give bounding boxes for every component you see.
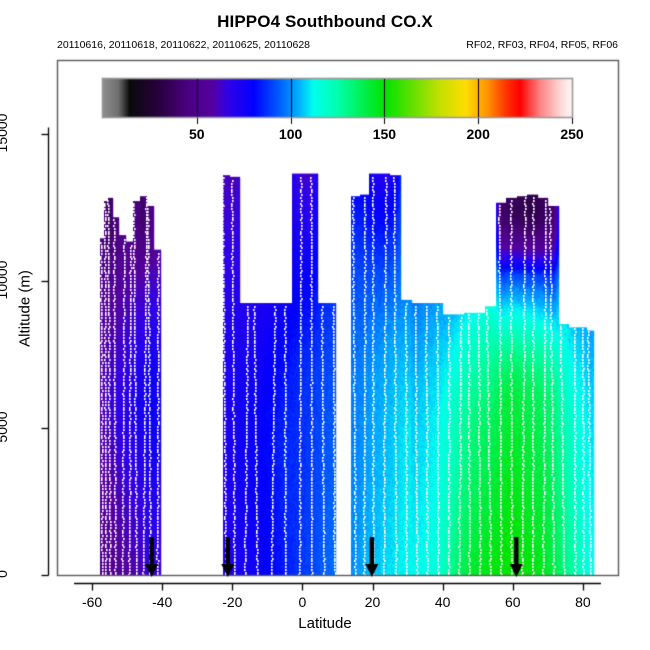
x-tick-label: -20: [222, 594, 242, 610]
y-tick-label: 10000: [0, 245, 10, 315]
colorbar-tick-label: 50: [189, 126, 205, 142]
x-axis-title: Latitude: [0, 615, 650, 632]
x-tick-label: 80: [575, 594, 591, 610]
y-tick-label: 15000: [0, 98, 10, 168]
research-flights-label: RF02, RF03, RF04, RF05, RF06: [466, 39, 618, 51]
co-curtain-plot-canvas: [0, 0, 650, 650]
page-title: HIPPO4 Southbound CO.X: [0, 12, 650, 32]
y-axis-title: Altitude (m): [17, 229, 34, 389]
x-tick-label: 40: [435, 594, 451, 610]
x-tick-label: 0: [299, 594, 307, 610]
colorbar-tick-label: 250: [560, 126, 583, 142]
colorbar-tick-label: 200: [467, 126, 490, 142]
colorbar-tick-label: 100: [279, 126, 302, 142]
y-tick-label: 5000: [0, 392, 10, 462]
y-tick-label: 0: [0, 539, 10, 609]
chart-page: HIPPO4 Southbound CO.X 20110616, 2011061…: [0, 0, 650, 650]
x-tick-label: -60: [82, 594, 102, 610]
x-tick-label: 20: [365, 594, 381, 610]
flight-dates-label: 20110616, 20110618, 20110622, 20110625, …: [57, 39, 310, 51]
colorbar-tick-label: 150: [373, 126, 396, 142]
x-tick-label: 60: [505, 594, 521, 610]
x-tick-label: -40: [152, 594, 172, 610]
